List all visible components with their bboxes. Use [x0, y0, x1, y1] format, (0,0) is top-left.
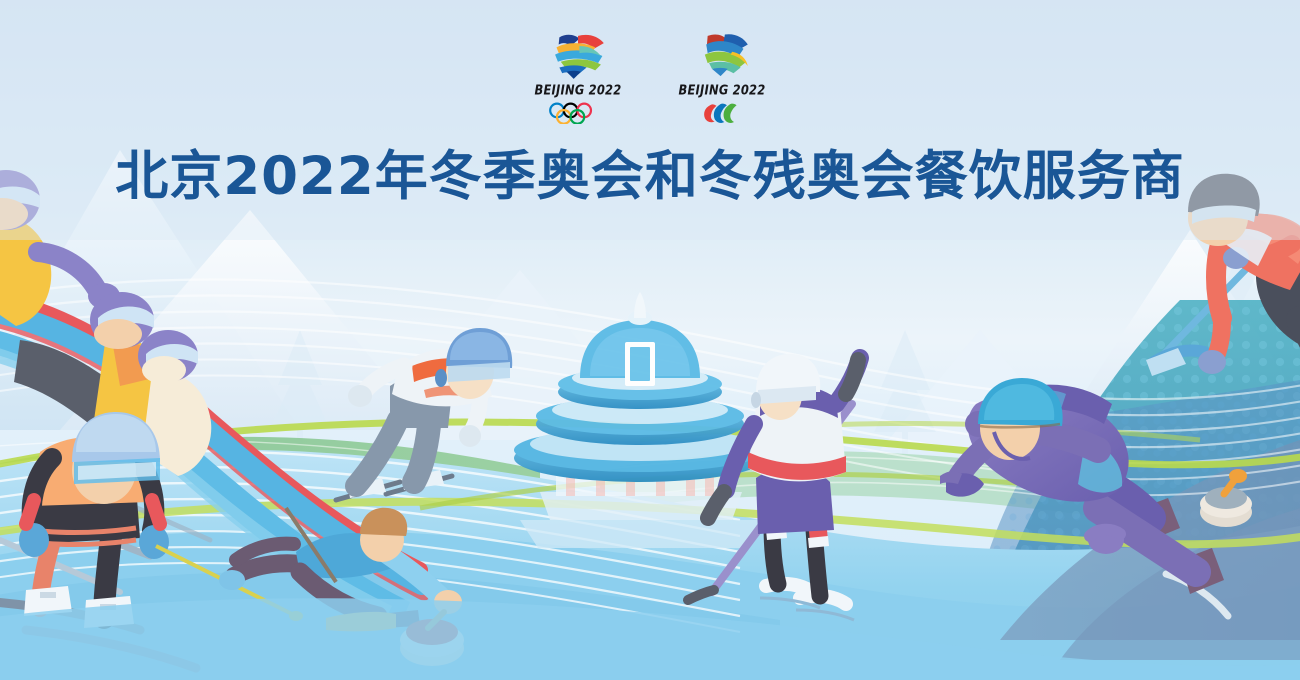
olympic-emblem-mark-icon: [535, 30, 621, 82]
olympic-wordmark: BEIJING 2022: [535, 84, 622, 97]
beijing-2022-olympic-emblem: BEIJING 2022: [530, 30, 626, 124]
paralympic-wordmark: BEIJING 2022: [679, 84, 766, 97]
paralympic-agitos-icon: [690, 102, 755, 124]
paralympic-emblem-mark-icon: [679, 30, 765, 82]
emblems-row: BEIJING 2022 BEIJIN: [0, 30, 1300, 124]
olympic-rings-icon: [546, 102, 611, 124]
beijing-2022-catering-banner: BEIJING 2022 BEIJIN: [0, 0, 1300, 680]
page-title: 北京2022年冬季奥会和冬残奥会餐饮服务商: [0, 146, 1300, 208]
beijing-2022-paralympic-emblem: BEIJING 2022: [674, 30, 770, 124]
